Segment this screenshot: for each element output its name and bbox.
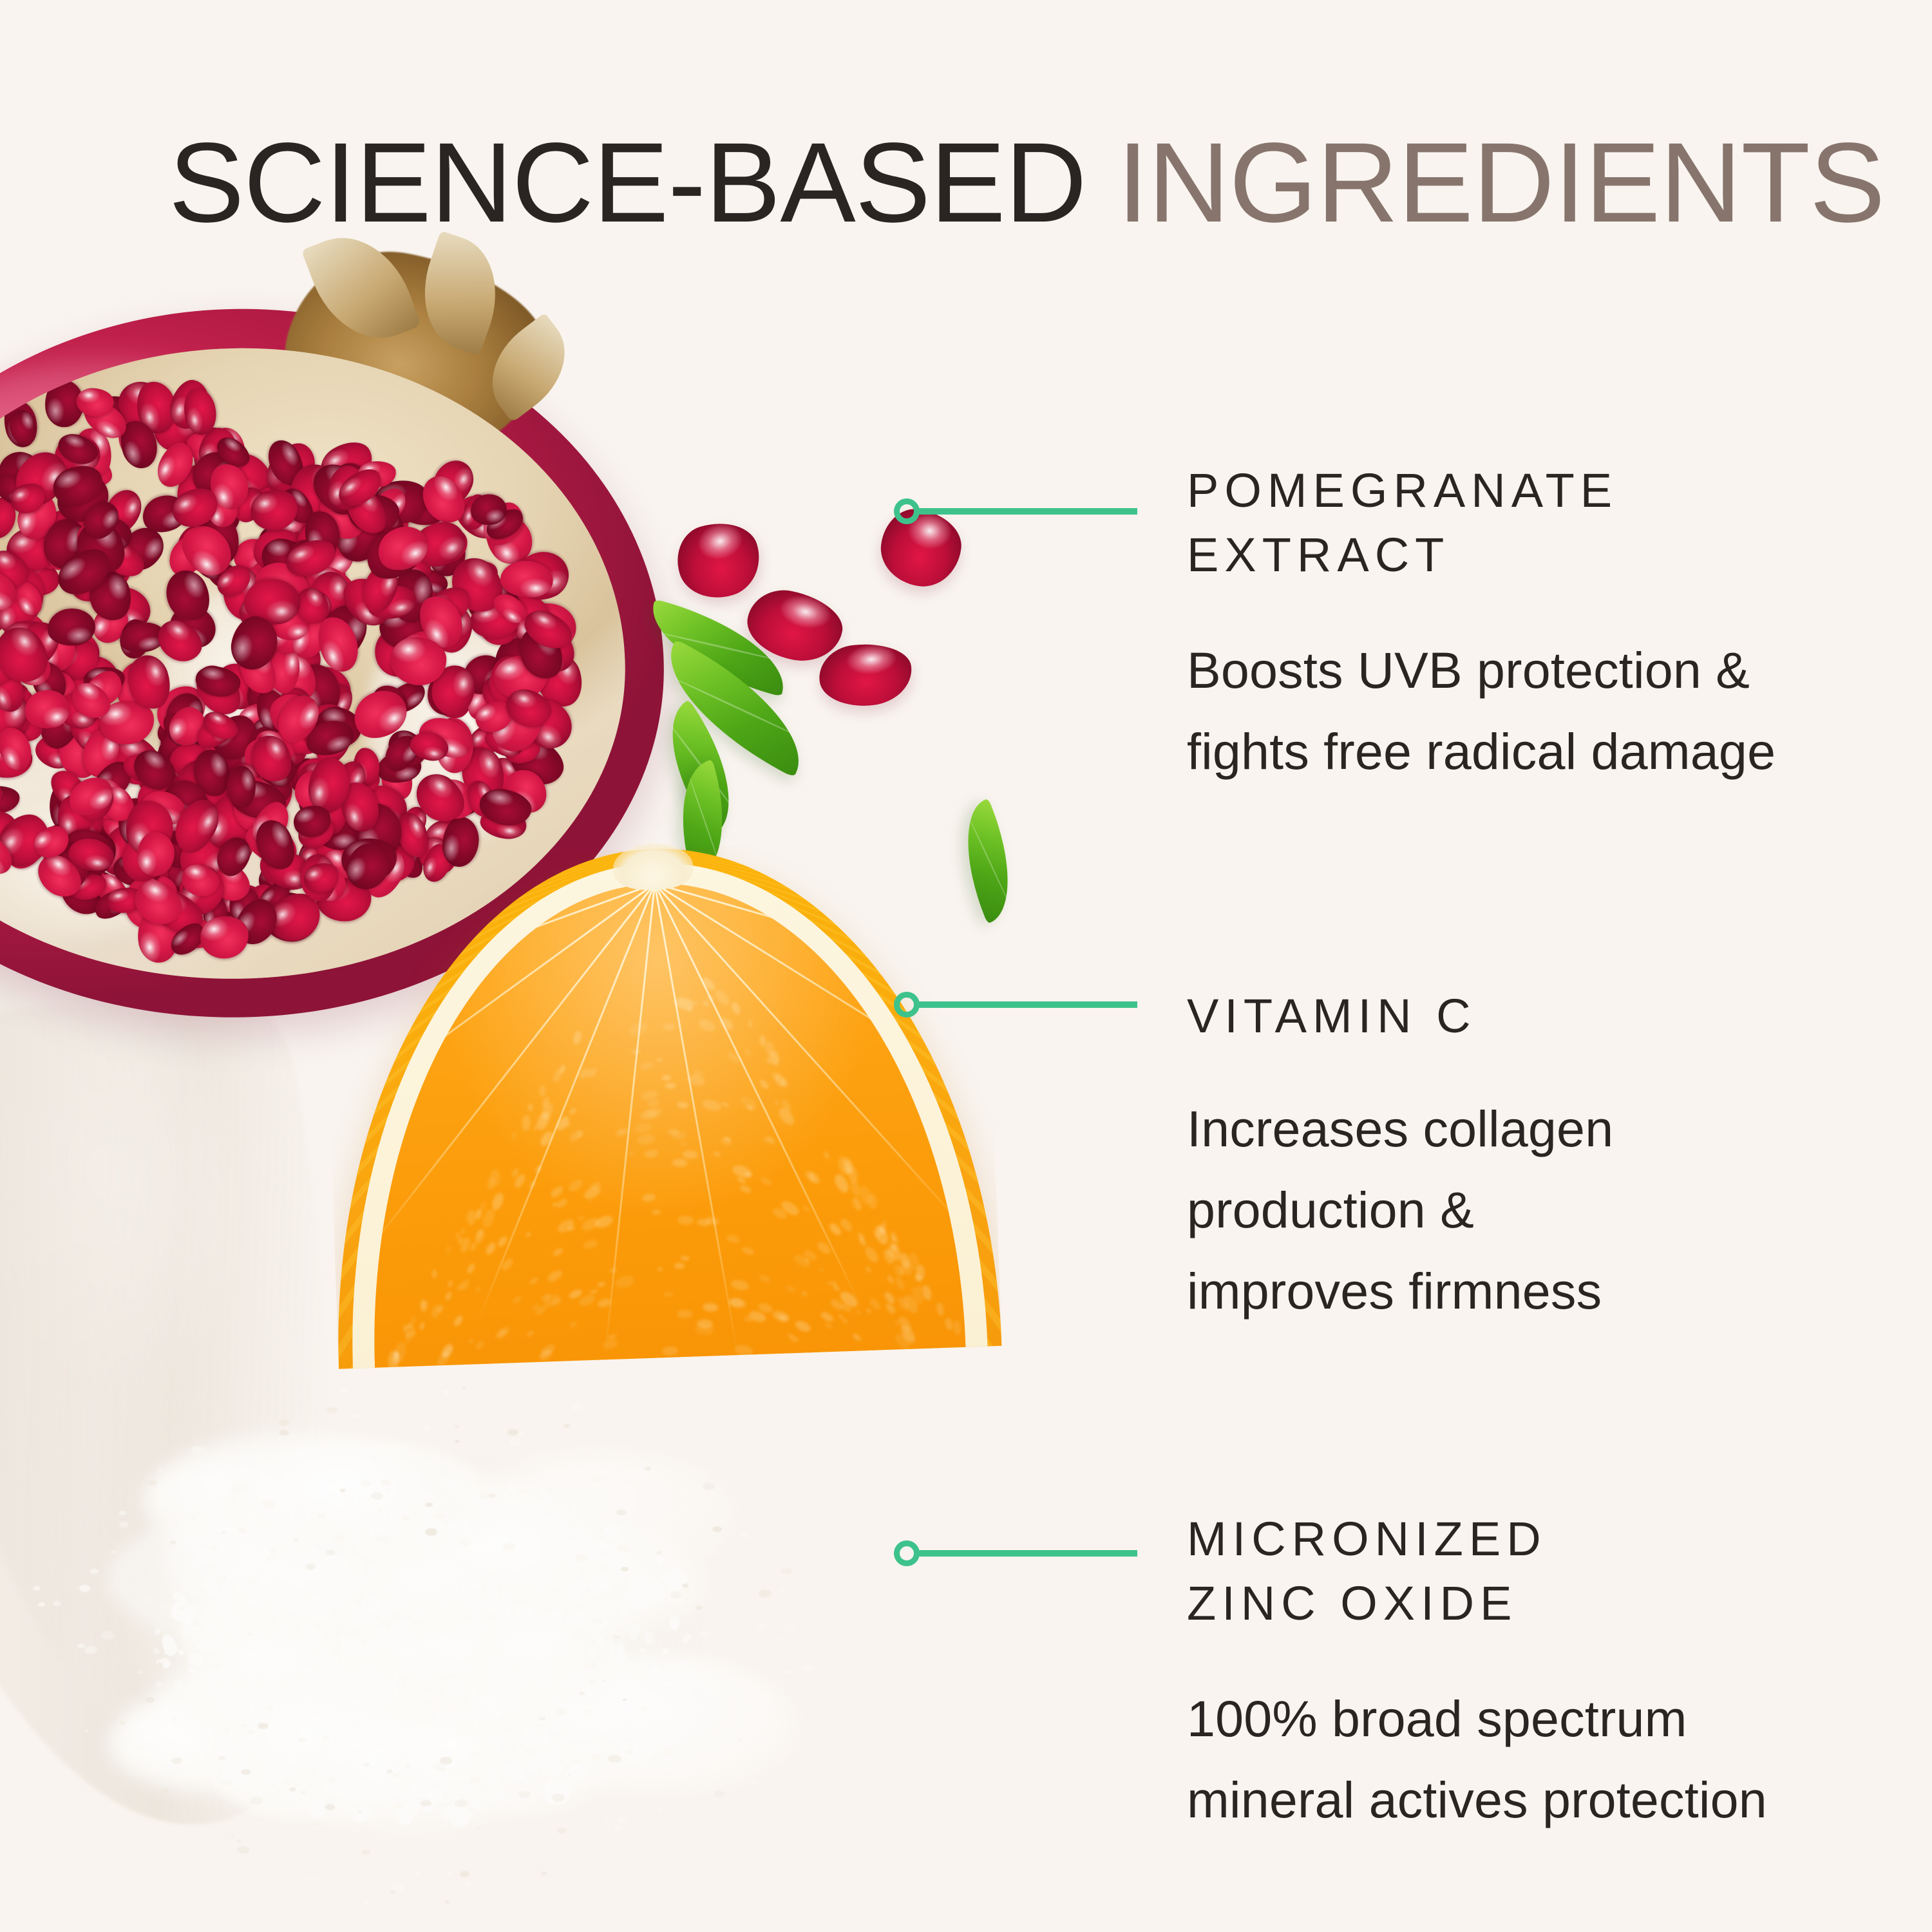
- orange-pulp-vesicle: [446, 1245, 451, 1253]
- powder-speck: [446, 1871, 453, 1875]
- powder-speck: [604, 1636, 612, 1640]
- powder-speck: [341, 1388, 349, 1393]
- powder-speck: [363, 1763, 369, 1766]
- powder-speck: [541, 1871, 547, 1875]
- powder-speck: [455, 1799, 468, 1807]
- powder-speck: [803, 1665, 812, 1671]
- connector-dot-icon: [894, 992, 920, 1018]
- page-title: SCIENCE-BASED INGREDIENTS: [169, 126, 1884, 240]
- orange-pulp-vesicle: [759, 1274, 772, 1284]
- orange-pulp-vesicle: [588, 1198, 594, 1203]
- orange-pulp-vesicle: [460, 1228, 465, 1235]
- orange-pulp-vesicle: [739, 1184, 752, 1195]
- powder-speck: [191, 1517, 196, 1520]
- powder-speck: [250, 1797, 263, 1804]
- orange-pulp-vesicle: [647, 1099, 660, 1107]
- powder-speck: [146, 1697, 155, 1703]
- orange-pulp-vesicle: [526, 1231, 532, 1238]
- powder-speck: [750, 1779, 758, 1784]
- powder-speck: [462, 1842, 464, 1843]
- powder-speck: [717, 1539, 726, 1544]
- powder-speck: [119, 1522, 129, 1528]
- powder-speck: [554, 1708, 567, 1716]
- orange-pulp-vesicle: [702, 1000, 710, 1007]
- orange-pulp-vesicle: [672, 1159, 688, 1167]
- powder-speck: [459, 1539, 471, 1546]
- orange-pulp-vesicle: [656, 1058, 663, 1062]
- orange-pulp-vesicle: [632, 1048, 641, 1055]
- powder-speck: [376, 1535, 389, 1542]
- orange-pulp-vesicle: [890, 1231, 897, 1242]
- orange-pulp-vesicle: [551, 1247, 563, 1258]
- orange-pulp-vesicle: [566, 1177, 585, 1194]
- orange-pulp-vesicle: [731, 1163, 753, 1180]
- powder-speck: [384, 1488, 390, 1492]
- powder-speck: [249, 1838, 254, 1841]
- powder-speck: [86, 1730, 89, 1732]
- powder-grain: [533, 1674, 537, 1680]
- powder-speck: [218, 1575, 227, 1581]
- powder-speck: [52, 1683, 55, 1685]
- powder-speck: [581, 1665, 589, 1670]
- powder-speck: [518, 1734, 524, 1737]
- orange-pulp-vesicle: [952, 1320, 961, 1336]
- powder-speck: [645, 1466, 652, 1470]
- powder-speck: [244, 1486, 249, 1490]
- powder-speck: [162, 1789, 169, 1794]
- powder-speck: [119, 1511, 127, 1515]
- powder-speck: [360, 1480, 372, 1487]
- powder-speck: [222, 1531, 225, 1533]
- orange-pulp-vesicle: [748, 1019, 753, 1028]
- orange-pulp-vesicle: [470, 1242, 478, 1252]
- powder-speck: [372, 1455, 377, 1459]
- title-dark-part: SCIENCE-BASED: [169, 120, 1086, 246]
- powder-speck: [231, 1835, 234, 1838]
- powder-speck: [700, 1631, 710, 1636]
- orange-pulp-vesicle: [511, 1294, 523, 1306]
- powder-speck: [361, 1791, 365, 1793]
- orange-pulp-vesicle: [802, 1204, 810, 1212]
- powder-speck: [781, 1567, 792, 1575]
- powder-speck: [279, 1430, 289, 1435]
- powder-speck: [591, 1474, 603, 1482]
- powder-speck: [306, 1564, 316, 1570]
- powder-speck: [583, 1709, 594, 1715]
- powder-speck: [502, 1543, 515, 1551]
- powder-grain: [586, 1558, 596, 1567]
- powder-speck: [780, 1587, 786, 1591]
- orange-segment-divider: [654, 884, 737, 1351]
- powder-speck: [613, 1635, 620, 1639]
- powder-speck: [242, 1724, 247, 1727]
- orange-pulp-vesicle: [484, 1242, 497, 1256]
- powder-grain: [315, 1501, 333, 1512]
- orange-pulp-vesicle: [867, 1193, 877, 1209]
- title-taupe-part: INGREDIENTS: [1086, 120, 1885, 246]
- orange-pulp-vesicle: [609, 1267, 618, 1273]
- powder-speck: [101, 1631, 114, 1639]
- orange-pulp-vesicle: [855, 1309, 862, 1315]
- powder-speck: [237, 1846, 249, 1854]
- powder-speck: [775, 1638, 781, 1642]
- orange-pulp-vesicle: [759, 1175, 773, 1187]
- powder-speck: [784, 1625, 797, 1633]
- orange-pulp-vesicle: [652, 1209, 661, 1215]
- powder-speck: [602, 1817, 614, 1825]
- powder-speck: [465, 1863, 468, 1865]
- orange-pulp-vesicle: [851, 1332, 862, 1342]
- orange-pulp-vesicle: [707, 995, 714, 1002]
- powder-speck: [555, 1463, 562, 1468]
- orange-pulp-vesicle: [644, 1149, 659, 1159]
- orange-pulp-vesicle: [555, 1197, 569, 1210]
- orange-pulp-vesicle: [642, 1193, 657, 1203]
- powder-speck: [703, 1482, 715, 1490]
- orange-pulp-vesicle: [700, 976, 717, 992]
- powder-speck: [156, 1682, 163, 1686]
- orange-pulp-vesicle: [639, 1061, 654, 1072]
- powder-speck: [453, 1819, 459, 1822]
- powder-speck: [736, 1503, 739, 1505]
- powder-speck: [328, 1778, 336, 1783]
- powder-speck: [332, 1538, 344, 1545]
- powder-speck: [661, 1663, 666, 1665]
- powder-speck: [73, 1537, 79, 1540]
- powder-speck: [393, 1803, 404, 1808]
- orange-pulp-vesicle: [886, 1274, 895, 1285]
- orange-pulp-vesicle: [578, 1293, 596, 1308]
- orange-pulp-vesicle: [590, 1289, 598, 1295]
- powder-speck: [171, 1757, 182, 1764]
- orange-pulp-vesicle: [665, 1083, 676, 1088]
- powder-speck: [626, 1750, 633, 1754]
- powder-speck: [676, 1605, 688, 1613]
- orange-pulp-vesicle: [466, 1262, 476, 1274]
- powder-speck: [33, 1586, 41, 1591]
- orange-pulp-vesicle: [943, 1317, 954, 1331]
- connector-line: [917, 508, 1137, 515]
- powder-speck: [421, 1764, 423, 1765]
- orange-pulp-vesicle: [475, 1286, 481, 1293]
- powder-speck: [236, 1840, 241, 1843]
- powder-speck: [327, 1407, 337, 1414]
- orange-pulp-vesicle: [683, 1150, 699, 1160]
- orange-pulp-vesicle: [862, 1244, 880, 1265]
- orange-pulp-vesicle: [634, 1121, 652, 1134]
- orange-pulp-vesicle: [697, 1017, 717, 1033]
- powder-speck: [191, 1446, 204, 1454]
- orange-pulp-vesicle: [573, 1030, 583, 1045]
- powder-speck: [318, 1876, 322, 1879]
- powder-speck: [164, 1652, 168, 1654]
- powder-speck: [636, 1437, 642, 1441]
- powder-speck: [262, 1500, 275, 1508]
- orange-pulp-vesicle: [677, 1101, 689, 1108]
- powder-speck: [432, 1513, 444, 1520]
- powder-speck: [714, 1790, 724, 1797]
- orange-pulp-vesicle: [741, 1246, 755, 1256]
- orange-pulp-vesicle: [567, 1127, 585, 1144]
- powder-speck: [90, 1569, 99, 1574]
- powder-speck: [681, 1587, 691, 1594]
- orange-pulp-vesicle: [558, 1064, 566, 1074]
- orange-pulp-vesicle: [637, 1133, 656, 1146]
- orange-pulp-vesicle: [720, 1101, 730, 1108]
- powder-speck: [80, 1745, 88, 1750]
- orange-pulp-vesicle: [677, 1215, 694, 1224]
- powder-speck: [302, 1791, 305, 1793]
- orange-pulp-vesicle: [645, 1106, 663, 1118]
- powder-speck: [475, 1479, 483, 1484]
- powder-speck: [136, 1745, 146, 1751]
- orange-pulp-vesicle: [819, 1311, 835, 1324]
- powder-speck: [210, 1564, 217, 1567]
- orange-pulp-vesicle: [555, 1217, 575, 1235]
- powder-grain: [346, 1522, 358, 1532]
- powder-speck: [161, 1589, 164, 1591]
- orange-pulp-vesicle: [776, 1105, 797, 1127]
- powder-speck: [138, 1671, 142, 1673]
- powder-speck: [206, 1473, 210, 1475]
- powder-speck: [617, 1545, 630, 1553]
- powder-grain: [447, 1678, 455, 1685]
- powder-speck: [241, 1769, 251, 1775]
- powder-speck: [571, 1404, 582, 1410]
- connector-line: [917, 1001, 1137, 1008]
- orange-pulp-vesicle: [866, 1308, 872, 1314]
- orange-pulp-vesicle: [719, 1016, 735, 1032]
- powder-speck: [371, 1492, 384, 1500]
- powder-speck: [319, 1540, 323, 1542]
- orange-pulp-vesicle: [865, 1266, 871, 1273]
- powder-speck: [552, 1794, 565, 1801]
- powder-grain: [557, 1605, 563, 1615]
- powder-speck: [663, 1748, 674, 1756]
- powder-speck: [193, 1484, 196, 1485]
- powder-speck: [53, 1601, 61, 1606]
- powder-speck: [81, 1636, 90, 1642]
- powder-speck: [354, 1414, 361, 1419]
- orange-pulp-vesicle: [825, 1322, 834, 1330]
- powder-speck: [557, 1828, 567, 1833]
- powder-speck: [445, 1900, 450, 1903]
- powder-speck: [442, 1390, 450, 1395]
- orange-pulp-vesicle: [693, 1001, 699, 1005]
- orange-pulp-vesicle: [680, 1141, 688, 1146]
- powder-speck: [361, 1850, 370, 1855]
- powder-speck: [471, 1406, 474, 1408]
- orange-pulp-vesicle: [444, 1291, 453, 1301]
- orange-pulp-vesicle: [597, 1281, 605, 1287]
- powder-speck: [340, 1489, 345, 1492]
- ingredient-description: Boosts UVB protection & fights free radi…: [1187, 630, 1776, 792]
- orange-pulp-vesicle: [432, 1270, 437, 1278]
- orange-pulp-vesicle: [568, 1106, 576, 1115]
- orange-pulp-vesicle: [614, 1274, 636, 1290]
- orange-pulp-vesicle: [680, 1256, 689, 1261]
- ingredient-description: Increases collagen production & improves…: [1187, 1088, 1613, 1332]
- orange-segment-divider: [654, 883, 982, 885]
- powder-grain: [585, 1780, 589, 1788]
- orange-pulp-vesicle: [918, 1285, 922, 1291]
- orange-pulp-vesicle: [714, 1151, 721, 1157]
- orange-pulp-vesicle: [577, 1215, 585, 1222]
- powder-speck: [84, 1721, 91, 1725]
- powder-speck: [641, 1707, 649, 1712]
- powder-speck: [543, 1497, 547, 1499]
- powder-speck: [658, 1808, 663, 1811]
- powder-speck: [258, 1723, 269, 1729]
- powder-speck: [198, 1610, 207, 1616]
- infographic-canvas: SCIENCE-BASED INGREDIENTS: [0, 0, 1932, 1932]
- powder-speck: [269, 1548, 278, 1553]
- orange-pulp-vesicle: [894, 1276, 907, 1291]
- orange-pulp-vesicle: [528, 1276, 538, 1286]
- orange-pulp-vesicle: [846, 1165, 858, 1183]
- powder-speck: [608, 1775, 611, 1777]
- powder-speck: [518, 1791, 531, 1798]
- powder-speck: [77, 1643, 85, 1648]
- powder-speck: [171, 1717, 178, 1721]
- powder-speck: [616, 1510, 626, 1515]
- powder-speck: [766, 1603, 769, 1605]
- orange-slice: [321, 837, 1002, 1368]
- orange-pulp-vesicle: [664, 1292, 674, 1298]
- powder-speck: [460, 1871, 469, 1877]
- orange-pulp-vesicle: [758, 1079, 770, 1091]
- connector-dot-icon: [894, 498, 920, 524]
- powder-speck: [111, 1551, 115, 1553]
- powder-speck: [106, 1796, 108, 1797]
- orange-pulp-vesicle: [539, 1085, 546, 1097]
- powder-speck: [79, 1585, 90, 1592]
- powder-speck: [336, 1408, 339, 1410]
- powder-speck: [289, 1787, 296, 1792]
- powder-grain: [337, 1584, 355, 1602]
- powder-speck: [580, 1595, 583, 1597]
- powder-speck: [390, 1890, 396, 1893]
- powder-speck: [756, 1624, 765, 1630]
- powder-speck: [346, 1519, 352, 1522]
- orange-pulp-vesicle: [823, 1150, 830, 1159]
- powder-speck: [507, 1429, 518, 1435]
- powder-speck: [509, 1550, 513, 1552]
- orange-pulp-vesicle: [730, 1001, 742, 1015]
- powder-speck: [170, 1540, 176, 1544]
- powder-speck: [462, 1387, 466, 1388]
- powder-speck: [739, 1739, 741, 1740]
- powder-speck: [527, 1748, 529, 1749]
- orange-pulp-vesicle: [592, 1244, 598, 1248]
- powder-speck: [573, 1758, 581, 1763]
- powder-speck: [166, 1842, 169, 1844]
- powder-speck: [563, 1424, 570, 1428]
- orange-pulp-vesicle: [819, 1267, 825, 1273]
- powder-speck: [119, 1721, 126, 1725]
- orange-pulp-vesicle: [615, 1127, 628, 1137]
- powder-speck: [741, 1532, 750, 1537]
- orange-pulp-vesicle: [661, 1075, 670, 1080]
- powder-speck: [729, 1543, 732, 1545]
- powder-speck: [432, 1763, 445, 1770]
- powder-grain: [365, 1719, 383, 1732]
- ingredient-description: 100% broad spectrum mineral actives prot…: [1187, 1678, 1767, 1841]
- orange-pulp-vesicle: [726, 1234, 741, 1244]
- orange-pulp-vesicle: [801, 1291, 808, 1296]
- pomegranate-seed-4: [876, 505, 965, 591]
- powder-speck: [404, 1765, 410, 1768]
- powder-grain: [370, 1782, 395, 1798]
- powder-speck: [274, 1587, 276, 1588]
- orange-pulp-vesicle: [456, 1233, 459, 1238]
- orange-pulp-vesicle: [935, 1302, 945, 1316]
- orange-pulp-vesicle: [712, 988, 732, 1009]
- ingredient-block-zinc-oxide: MICRONIZED ZINC OXIDE 100% broad spectru…: [1187, 1507, 1767, 1841]
- orange-pulp-vesicle: [674, 1263, 685, 1269]
- orange-pulp-vesicle: [467, 1210, 475, 1225]
- powder-speck: [84, 1646, 97, 1654]
- ingredient-block-vitamin-c: VITAMIN C Increases collagen production …: [1187, 984, 1613, 1332]
- powder-speck: [158, 1663, 164, 1667]
- orange-pulp-vesicle: [512, 1133, 517, 1141]
- orange-pulp-vesicle: [774, 1100, 779, 1105]
- powder-speck: [144, 1598, 149, 1602]
- connector-line: [917, 1550, 1137, 1557]
- orange-pulp-vesicle: [668, 1128, 679, 1135]
- orange-pulp-vesicle: [447, 1280, 453, 1287]
- powder-speck: [588, 1640, 598, 1646]
- orange-pulp-vesicle: [549, 1184, 565, 1199]
- orange-pulp-vesicle: [784, 1284, 797, 1294]
- powder-speck: [250, 1580, 257, 1584]
- powder-speck: [108, 1716, 118, 1722]
- powder-grain: [564, 1617, 579, 1628]
- powder-speck: [694, 1469, 706, 1477]
- ingredient-block-pomegranate: POMEGRANATE EXTRACT Boosts UVB protectio…: [1187, 459, 1776, 792]
- pomegranate-seed-1: [668, 513, 768, 608]
- powder-speck: [649, 1781, 652, 1783]
- orange-core: [612, 842, 694, 891]
- powder-speck: [174, 1527, 179, 1530]
- powder-speck: [464, 1881, 471, 1886]
- powder-speck: [284, 1779, 294, 1786]
- ingredient-heading: MICRONIZED ZINC OXIDE: [1187, 1507, 1767, 1636]
- powder-speck: [759, 1589, 772, 1597]
- orange-pulp-vesicle: [629, 1151, 635, 1155]
- ingredient-heading: POMEGRANATE EXTRACT: [1187, 459, 1776, 587]
- powder-speck: [381, 1479, 391, 1486]
- powder-speck: [392, 1773, 400, 1777]
- powder-speck: [326, 1435, 332, 1439]
- orange-pulp-vesicle: [701, 1098, 723, 1113]
- orange-pulp-vesicle: [657, 1267, 663, 1271]
- orange-pulp-vesicle: [744, 1048, 752, 1057]
- powder-speck: [705, 1547, 716, 1554]
- orange-pulp-vesicle: [663, 1023, 675, 1030]
- powder-grain: [569, 1580, 587, 1593]
- powder-speck: [305, 1874, 316, 1881]
- orange-pulp-vesicle: [528, 1103, 533, 1112]
- powder-speck: [278, 1419, 290, 1426]
- orange-pulp-vesicle: [491, 1170, 500, 1186]
- powder-grain: [465, 1527, 471, 1536]
- powder-speck: [682, 1584, 688, 1587]
- orange-pulp-vesicle: [730, 1278, 750, 1292]
- powder-speck: [568, 1774, 570, 1776]
- powder-grain: [394, 1552, 402, 1565]
- powder-speck: [699, 1521, 709, 1527]
